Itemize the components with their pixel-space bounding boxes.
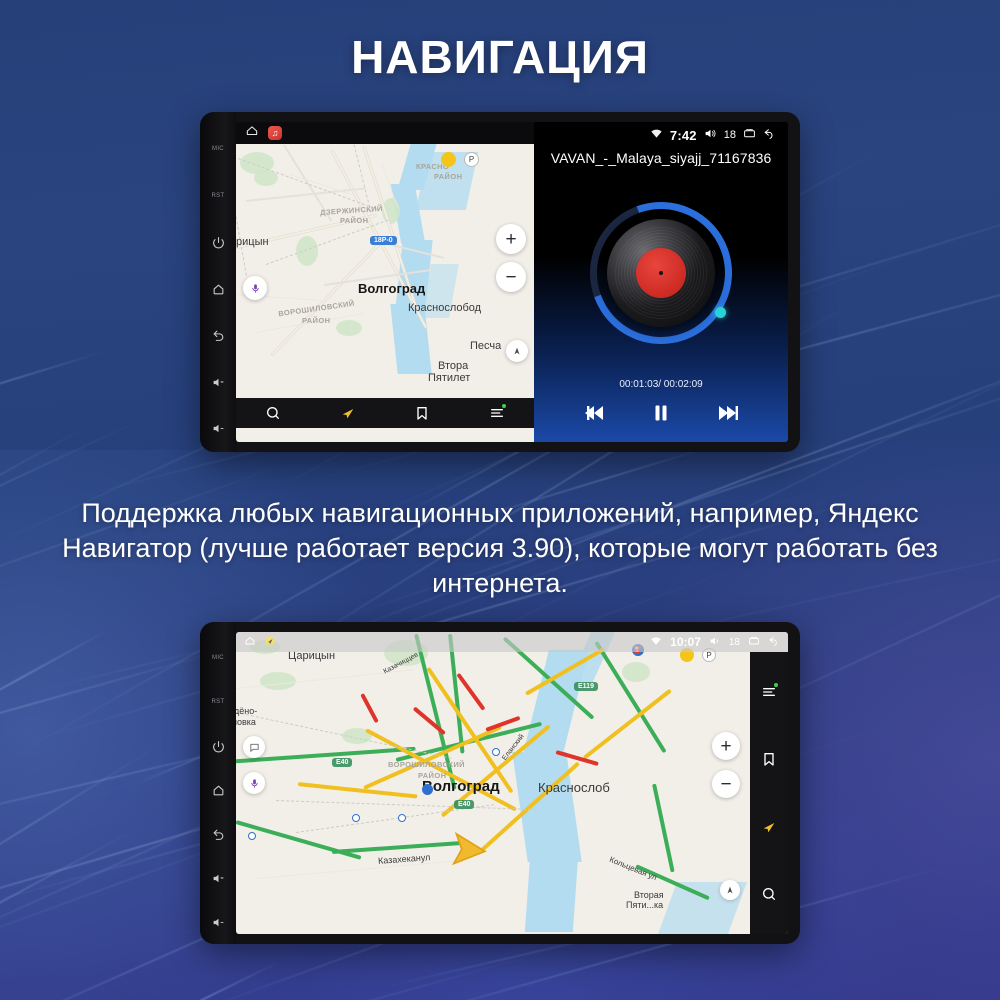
car-head-unit-top: MIC RST ♫ xyxy=(200,112,800,452)
volume-icon xyxy=(709,635,721,650)
traffic-road-red xyxy=(413,706,446,735)
transit-stop-icon xyxy=(492,748,500,756)
bezel-label-mic: MIC xyxy=(200,126,236,173)
poi-marker-yellow[interactable] xyxy=(441,152,456,167)
transit-stop-icon xyxy=(352,814,360,822)
compass-icon[interactable] xyxy=(506,340,528,362)
notification-dot xyxy=(774,683,778,687)
progress-ring-thumb[interactable] xyxy=(715,307,726,318)
traffic-road-green xyxy=(332,841,462,854)
transit-stop-icon xyxy=(248,832,256,840)
navigate-icon[interactable] xyxy=(761,819,777,835)
poi-marker-blue[interactable] xyxy=(422,784,433,795)
traffic-road-red xyxy=(456,673,485,711)
search-icon[interactable] xyxy=(761,886,777,902)
zoom-in-button[interactable]: + xyxy=(712,732,740,760)
map-label-town: Краснослоб xyxy=(538,780,610,795)
status-bar: 7:42 18 xyxy=(534,122,788,148)
music-player-pane: 7:42 18 VAVAN_-_Malaya_siyajj_71167836 xyxy=(534,122,788,442)
back-arrow-icon[interactable] xyxy=(763,127,776,143)
current-position-arrow xyxy=(450,830,490,875)
map-label-town: Краснослобод xyxy=(408,302,481,314)
menu-icon[interactable] xyxy=(761,684,777,700)
map-canvas[interactable]: Царицын дёно- новка ВОРОШИЛОВСКИЙ РАЙОН … xyxy=(236,632,788,934)
map-label-town: Песча xyxy=(470,340,501,352)
bezel-label-mic: MIC xyxy=(200,636,236,680)
map-label-town: Вторая xyxy=(634,890,664,900)
music-app-icon[interactable]: ♫ xyxy=(268,126,282,140)
map-label-city: Волгоград xyxy=(358,281,425,296)
description-text: Поддержка любых навигационных приложений… xyxy=(60,496,940,601)
road-shield: E40 xyxy=(332,758,352,767)
playback-time: 00:01:03/ 00:02:09 xyxy=(534,379,788,394)
park-area xyxy=(260,672,296,690)
home-icon[interactable] xyxy=(244,635,256,650)
back-icon[interactable] xyxy=(200,312,236,359)
map-label-district: РАЙОН xyxy=(434,172,462,181)
microphone-icon[interactable] xyxy=(243,772,265,794)
map-label-town: Пятилет xyxy=(428,372,470,384)
player-controls xyxy=(534,394,788,442)
navigator-map[interactable]: 10:07 18 xyxy=(236,632,788,934)
map-label-city: Волгоград xyxy=(422,778,500,795)
car-head-unit-bottom: MIC RST xyxy=(200,622,800,944)
map-label-district: РАЙОН xyxy=(340,216,368,225)
home-icon[interactable] xyxy=(200,768,236,812)
wifi-icon xyxy=(650,635,662,650)
wifi-icon xyxy=(650,127,663,143)
traffic-road-red xyxy=(360,693,379,723)
road xyxy=(246,187,366,201)
vinyl-center-hole xyxy=(659,271,663,275)
map-label-town: рицын xyxy=(236,236,269,248)
previous-track-icon[interactable] xyxy=(582,401,606,430)
album-artwork xyxy=(534,166,788,379)
road-shield: E40 xyxy=(454,800,474,809)
volume-level: 18 xyxy=(724,129,736,141)
device-left-bezel: MIC RST xyxy=(200,622,236,944)
road-shield: E119 xyxy=(574,682,598,691)
traffic-road-yellow xyxy=(583,689,672,760)
recents-icon[interactable] xyxy=(743,127,756,143)
bookmark-icon[interactable] xyxy=(761,751,777,767)
recents-icon[interactable] xyxy=(748,635,760,650)
volume-up-icon[interactable] xyxy=(200,359,236,406)
home-icon[interactable] xyxy=(200,266,236,313)
bezel-label-rst: RST xyxy=(200,680,236,724)
back-arrow-icon[interactable] xyxy=(768,635,780,650)
power-icon[interactable] xyxy=(200,219,236,266)
status-bar: 10:07 18 xyxy=(236,632,788,652)
map-label-town: Кольцевая ул xyxy=(608,855,658,882)
notification-dot xyxy=(502,404,506,408)
traffic-road-green xyxy=(652,784,675,873)
microphone-icon[interactable] xyxy=(243,276,267,300)
volume-icon xyxy=(704,127,717,143)
menu-icon[interactable] xyxy=(489,405,505,421)
android-navigation-bar: ♫ xyxy=(236,122,534,144)
map-label-town: новка xyxy=(236,717,256,727)
map-label-town: дёно- xyxy=(236,706,257,716)
map-canvas[interactable]: ДЗЕРЖИНСКИЙ РАЙОН ВОРОШИЛОВСКИЙ РАЙОН КР… xyxy=(236,144,534,442)
park-area xyxy=(336,320,362,336)
device-screen-bottom: 10:07 18 xyxy=(236,632,788,934)
chat-icon[interactable] xyxy=(243,736,265,758)
next-track-icon[interactable] xyxy=(716,401,740,430)
home-icon[interactable] xyxy=(245,124,259,143)
volume-level: 18 xyxy=(729,637,740,648)
bookmark-icon[interactable] xyxy=(414,405,430,421)
volume-down-icon[interactable] xyxy=(200,405,236,452)
volume-down-icon[interactable] xyxy=(200,900,236,944)
volume-up-icon[interactable] xyxy=(200,856,236,900)
zoom-in-button[interactable]: + xyxy=(496,224,526,254)
zoom-out-button[interactable]: − xyxy=(496,262,526,292)
device-screen-top: ♫ xyxy=(236,122,788,442)
compass-icon[interactable] xyxy=(720,880,740,900)
road-shield: 18Р-0 xyxy=(370,236,397,245)
map-label-town: Пяти...ка xyxy=(626,900,663,910)
map-pane: ♫ xyxy=(236,122,534,442)
vinyl-record-icon xyxy=(607,219,715,327)
track-title: VAVAN_-_Malaya_siyajj_71167836 xyxy=(534,148,788,166)
map-label-district: РАЙОН xyxy=(302,316,330,325)
map-right-rail xyxy=(750,652,788,934)
navigator-app-icon[interactable] xyxy=(264,635,276,650)
power-icon[interactable] xyxy=(200,724,236,768)
traffic-road-green xyxy=(594,641,666,753)
device-left-bezel: MIC RST xyxy=(200,112,236,452)
navigate-icon[interactable] xyxy=(340,405,356,421)
river-volga xyxy=(525,842,579,932)
pause-icon[interactable] xyxy=(649,401,673,430)
search-icon[interactable] xyxy=(265,405,281,421)
transit-stop-icon xyxy=(398,814,406,822)
map-bottom-toolbar xyxy=(236,398,534,428)
bezel-label-rst: RST xyxy=(200,173,236,220)
page-title: НАВИГАЦИЯ xyxy=(0,30,1000,84)
music-note-glyph: ♫ xyxy=(272,128,279,138)
vinyl-label xyxy=(636,248,686,298)
status-clock: 10:07 xyxy=(670,635,701,649)
traffic-road-yellow xyxy=(298,782,418,799)
status-clock: 7:42 xyxy=(670,128,697,143)
parking-icon[interactable]: P xyxy=(464,152,479,167)
zoom-out-button[interactable]: − xyxy=(712,770,740,798)
back-icon[interactable] xyxy=(200,812,236,856)
map-label-district: ВОРОШИЛОВСКИЙ xyxy=(388,760,465,769)
map-label-town: Втора xyxy=(438,360,468,372)
progress-ring[interactable] xyxy=(590,202,732,344)
park-area xyxy=(622,662,650,682)
road xyxy=(256,861,455,880)
